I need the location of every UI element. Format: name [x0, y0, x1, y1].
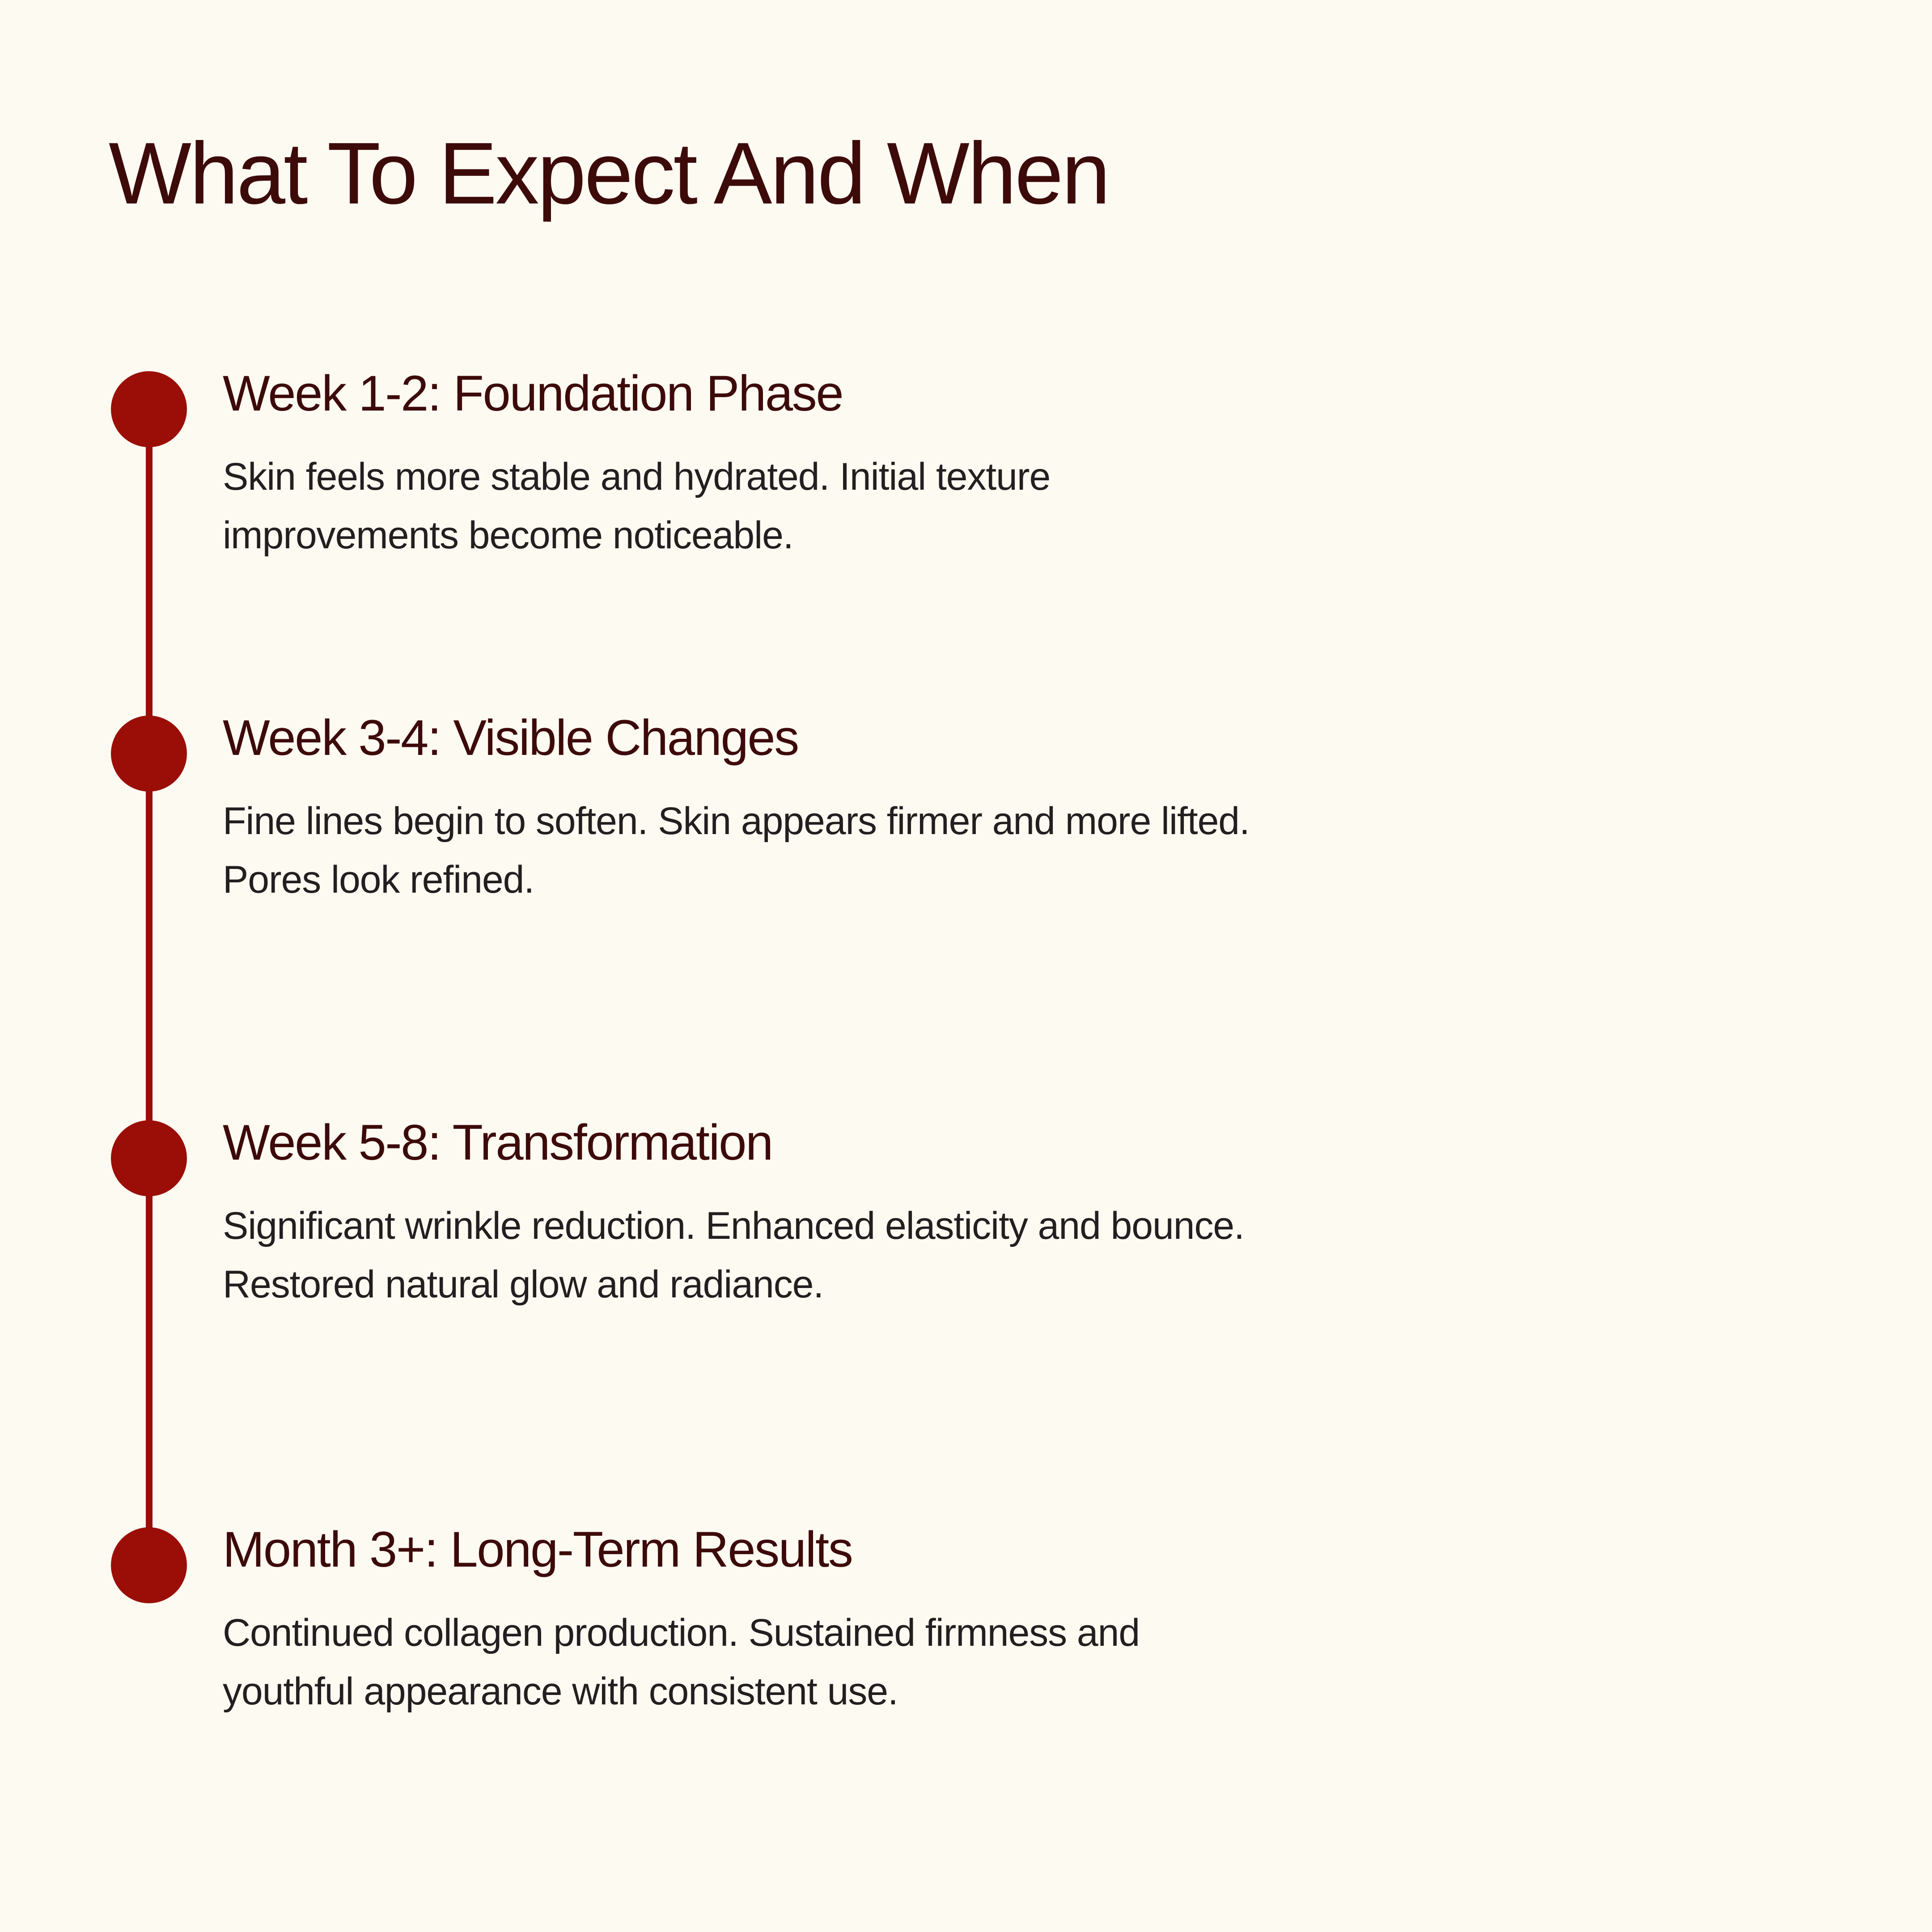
timeline-item-body-line: Fine lines begin to soften. Skin appears…	[223, 792, 1860, 851]
timeline-dot-icon	[111, 1120, 187, 1196]
timeline-item-body: Continued collagen production. Sustained…	[223, 1604, 1860, 1720]
timeline-item: Week 3-4: Visible Changes Fine lines beg…	[223, 709, 1860, 909]
timeline-item-body: Fine lines begin to soften. Skin appears…	[223, 792, 1860, 909]
timeline-item-heading: Month 3+: Long-Term Results	[223, 1521, 1860, 1579]
timeline-item-body-line: Restored natural glow and radiance.	[223, 1255, 1860, 1314]
timeline-item: Week 1-2: Foundation Phase Skin feels mo…	[223, 364, 1860, 564]
timeline-item-body-line: Significant wrinkle reduction. Enhanced …	[223, 1197, 1860, 1255]
timeline-item: Month 3+: Long-Term Results Continued co…	[223, 1521, 1860, 1720]
timeline-item-body-line: Skin feels more stable and hydrated. Ini…	[223, 448, 1860, 506]
timeline-item-body: Skin feels more stable and hydrated. Ini…	[223, 448, 1860, 564]
timeline-dot-icon	[111, 716, 187, 792]
timeline-item-body-line: Continued collagen production. Sustained…	[223, 1604, 1860, 1662]
timeline-item-heading: Week 1-2: Foundation Phase	[223, 364, 1860, 423]
timeline-item-body-line: improvements become noticeable.	[223, 506, 1860, 565]
infographic-card: What To Expect And When Week 1-2: Founda…	[0, 0, 1932, 1932]
timeline-dot-icon	[111, 371, 187, 447]
timeline-rail-icon	[146, 409, 153, 1565]
timeline-item-body-line: Pores look refined.	[223, 851, 1860, 909]
timeline-dot-icon	[111, 1527, 187, 1603]
timeline-item: Week 5-8: Transformation Significant wri…	[223, 1114, 1860, 1313]
timeline-item-body-line: youthful appearance with consistent use.	[223, 1662, 1860, 1721]
timeline-item-heading: Week 3-4: Visible Changes	[223, 709, 1860, 767]
timeline-item-body: Significant wrinkle reduction. Enhanced …	[223, 1197, 1860, 1313]
timeline-item-heading: Week 5-8: Transformation	[223, 1114, 1860, 1172]
